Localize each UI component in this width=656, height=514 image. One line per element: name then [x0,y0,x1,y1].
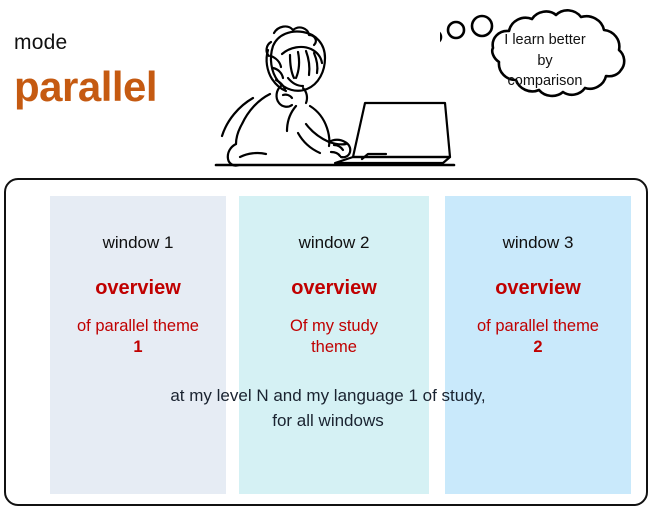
window-3-subtitle-line-1: of parallel theme [439,316,637,337]
window-1-overview-label: overview [50,278,226,298]
thought-bubble-line-1: I learn better [455,30,635,51]
thought-bubble-line-3: comparison [455,71,635,92]
header: mode parallel [0,0,656,172]
window-3-subtitle: of parallel theme 2 [439,316,637,357]
windows-panel: window 1 overview of parallel theme 1 wi… [4,178,648,506]
person-studying-at-laptop-illustration [210,2,460,172]
window-2-subtitle: Of my study theme [233,316,435,357]
thought-bubble-text: I learn better by comparison [455,30,635,92]
window-2-subtitle-line-1: Of my study [233,316,435,337]
window-1-subtitle-line-2: 1 [133,338,142,356]
window-1-subtitle-line-1: of parallel theme [44,316,232,337]
window-column-1[interactable]: window 1 overview of parallel theme 1 [50,196,226,494]
window-2-title: window 2 [239,234,429,251]
window-1-title: window 1 [50,234,226,251]
window-2-overview-label: overview [239,278,429,298]
mode-name: parallel [14,66,157,108]
window-2-subtitle-line-2: theme [233,337,435,358]
window-column-2[interactable]: window 2 overview Of my study theme [239,196,429,494]
thought-bubble-line-2: by [455,51,635,72]
windows-columns: window 1 overview of parallel theme 1 wi… [6,180,650,508]
mode-label: mode [14,32,67,53]
window-column-3[interactable]: window 3 overview of parallel theme 2 [445,196,631,494]
window-3-overview-label: overview [445,278,631,298]
window-3-title: window 3 [445,234,631,251]
window-3-subtitle-line-2: 2 [533,338,542,356]
window-1-subtitle: of parallel theme 1 [44,316,232,357]
